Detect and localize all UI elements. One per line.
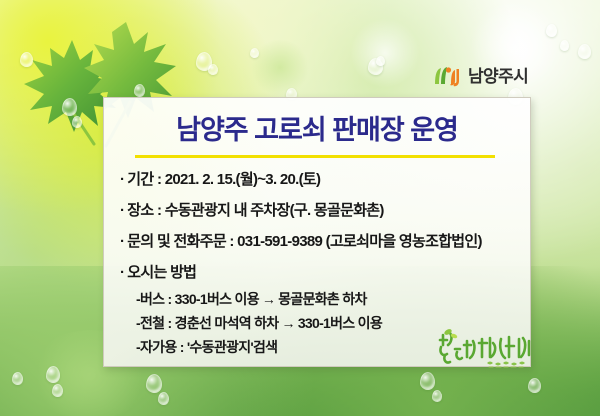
info-line-place-text: 장소 : 수동관광지 내 주차장(구. 몽골문화촌): [127, 202, 383, 219]
info-line-period: ·기간 : 2021. 2. 15.(월)~3. 20.(토): [120, 172, 520, 187]
info-line-place: ·장소 : 수동관광지 내 주차장(구. 몽골문화촌): [120, 203, 520, 218]
info-line-contact-text: 문의 및 전화주문 : 031-591-9389 (고로쇠마을 영농조합법인): [127, 233, 482, 250]
bullet-dot: ·: [120, 171, 124, 188]
info-line-directions-text: 오시는 방법: [127, 264, 196, 281]
directions-bus-after: 몽골문화촌 하차: [278, 291, 366, 307]
directions-subway-after: 330-1버스 이용: [298, 315, 382, 331]
poster-canvas: 남양주시 남양주 고로쇠 판매장 운영 ·기간 : 2021. 2. 15.(월…: [0, 0, 600, 416]
bullet-dot: ·: [120, 264, 124, 281]
title-underline: [135, 155, 495, 158]
city-logo-label: 남양주시: [468, 68, 528, 85]
namyangju-city-emblem-icon: [432, 64, 462, 88]
directions-bus-prefix: -버스 :: [136, 291, 175, 307]
info-line-period-text: 기간 : 2021. 2. 15.(월)~3. 20.(토): [127, 171, 320, 188]
directions-subway-prefix: -전철 :: [136, 315, 175, 331]
bullet-dot: ·: [120, 202, 124, 219]
directions-car-prefix: -자가용 :: [136, 339, 187, 355]
directions-car-before: '수동관광지'검색: [187, 339, 278, 355]
directions-subway-before: 경춘선 마석역 하차: [175, 315, 279, 331]
city-logo: 남양주시: [432, 64, 528, 88]
spring-campaign-logo: [437, 327, 541, 371]
directions-bus-before: 330-1버스 이용: [175, 291, 259, 307]
info-line-contact: ·문의 및 전화주문 : 031-591-9389 (고로쇠마을 영농조합법인): [120, 234, 520, 249]
directions-bus: -버스 : 330-1버스 이용→몽골문화촌 하차: [120, 292, 520, 306]
page-title: 남양주 고로쇠 판매장 운영: [104, 116, 530, 146]
arrow-icon: →: [279, 315, 298, 331]
arrow-icon: →: [259, 291, 278, 307]
info-line-directions-heading: ·오시는 방법: [120, 265, 520, 280]
bullet-dot: ·: [120, 233, 124, 250]
